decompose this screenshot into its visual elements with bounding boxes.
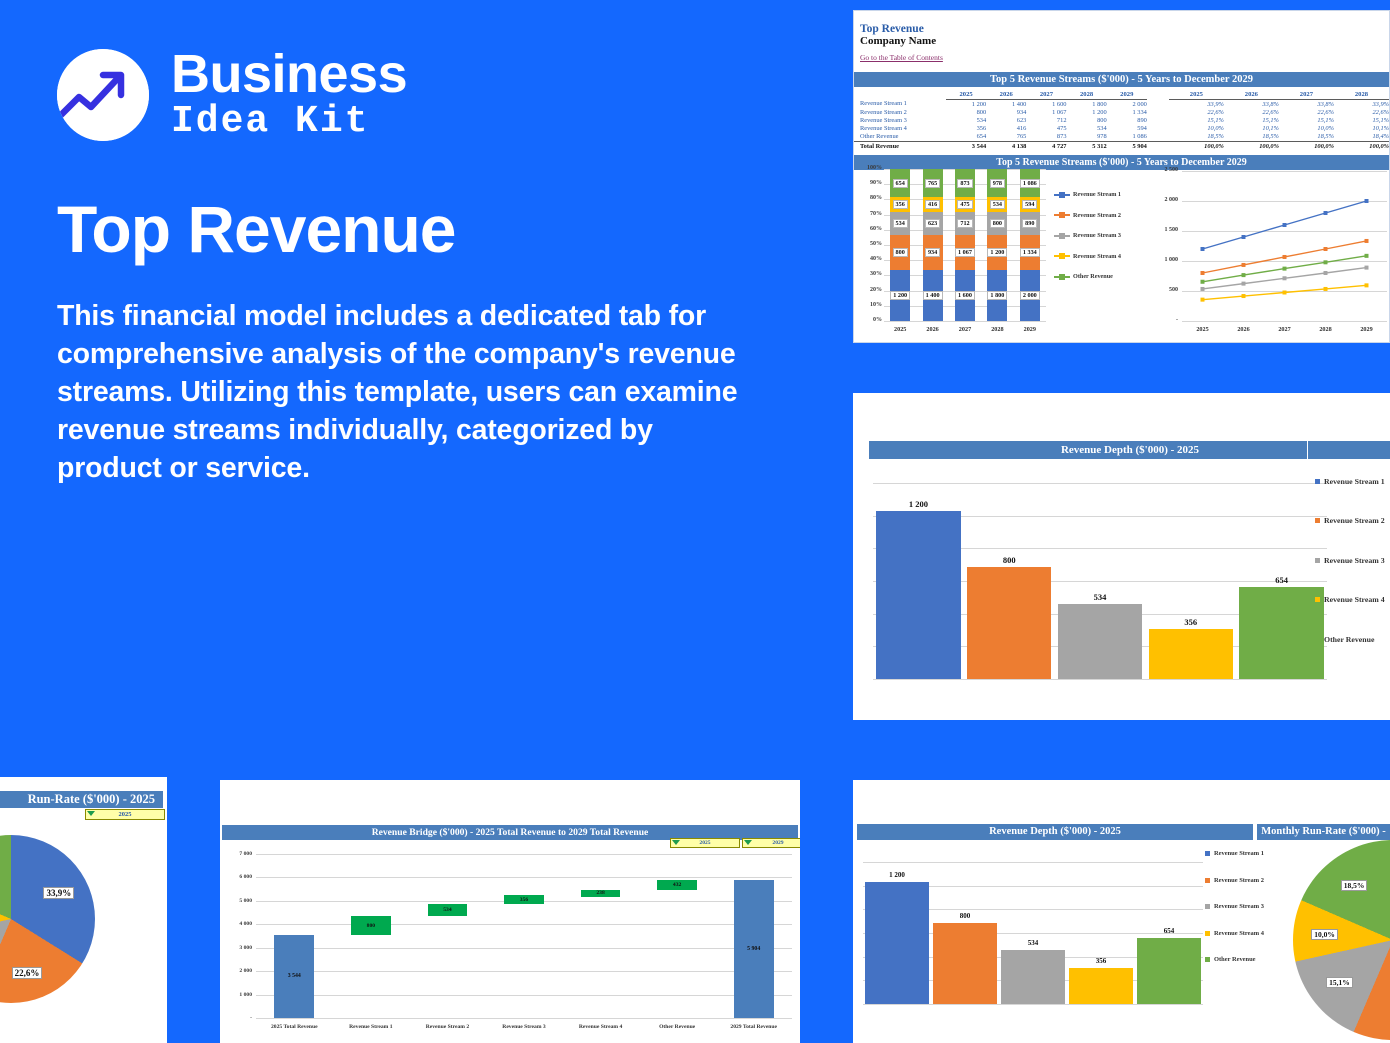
y-axis-tick-label: 90% bbox=[856, 180, 882, 186]
x-axis-tick-label: 2025 bbox=[1182, 326, 1223, 333]
legend-item-label: Revenue Stream 4 bbox=[1073, 253, 1121, 260]
brand-name-primary: Business bbox=[171, 47, 407, 101]
y-axis-tick-label: 50% bbox=[856, 241, 882, 247]
waterfall-value-label: 238 bbox=[581, 890, 621, 896]
legend-color-swatch bbox=[1205, 851, 1210, 856]
bar-segment-label: 800 bbox=[893, 248, 908, 257]
bar-segment-label: 1 200 bbox=[987, 248, 1007, 257]
bar-segment: 873 bbox=[955, 169, 975, 197]
y-axis-tick-label: 40% bbox=[856, 256, 882, 262]
legend-item: Revenue Stream 3 bbox=[1054, 232, 1121, 239]
col-pct-2025: 2025 bbox=[1169, 87, 1224, 100]
col-year-2025: 2025 bbox=[946, 87, 986, 100]
cell-value: 800 bbox=[1067, 116, 1107, 124]
x-axis-tick-label: Revenue Stream 4 bbox=[562, 1024, 639, 1030]
bar bbox=[876, 511, 960, 679]
cell-pct: 22,6% bbox=[1279, 108, 1334, 116]
cell-pct: 22,6% bbox=[1334, 108, 1389, 116]
cell-value: 890 bbox=[1107, 116, 1147, 124]
cell-pct: 18,5% bbox=[1224, 133, 1279, 142]
cell-value: 654 bbox=[946, 133, 986, 142]
legend-item-label: Revenue Stream 2 bbox=[1214, 877, 1264, 884]
x-axis-tick-label: 2025 Total Revenue bbox=[256, 1024, 333, 1030]
bar-segment-label: 1 334 bbox=[1020, 248, 1040, 257]
waterfall-delta-bar: 800 bbox=[351, 916, 391, 935]
gridline bbox=[873, 679, 1327, 680]
cell-value: 1 067 bbox=[1026, 108, 1066, 116]
bar-segment: 416 bbox=[923, 197, 943, 212]
legend-line-swatch bbox=[1054, 255, 1070, 257]
cell-value: 475 bbox=[1026, 125, 1066, 133]
bar-value-label: 654 bbox=[1239, 575, 1323, 585]
bar-segment: 475 bbox=[955, 197, 975, 212]
bar-segment: 623 bbox=[923, 212, 943, 235]
cell-pct: 15,1% bbox=[1279, 116, 1334, 124]
cell-pct: 10,1% bbox=[1334, 125, 1389, 133]
col-year-2028: 2028 bbox=[1067, 87, 1107, 100]
table-header-row: 2025 2026 2027 2028 2029 2025 2026 2027 … bbox=[854, 87, 1389, 100]
cell-pct: 100,0% bbox=[1224, 141, 1279, 150]
gridline bbox=[256, 854, 792, 855]
cell-value: 416 bbox=[986, 125, 1026, 133]
bar-value-label: 654 bbox=[1137, 927, 1200, 935]
bar-segment: 978 bbox=[987, 169, 1007, 197]
pie-chart bbox=[1293, 840, 1390, 1040]
sheet-company-name: Company Name bbox=[860, 35, 1389, 47]
legend-line-swatch bbox=[1054, 194, 1070, 196]
stacked-bar-column: 2 0001 3348905941 086 bbox=[1020, 169, 1040, 321]
bar bbox=[1149, 629, 1233, 679]
x-axis-tick-label: 2029 bbox=[1014, 326, 1046, 333]
cell-value: 765 bbox=[986, 133, 1026, 142]
bar-value-label: 800 bbox=[933, 912, 996, 920]
bar-value-label: 1 200 bbox=[865, 871, 928, 879]
legend-item-label: Revenue Stream 2 bbox=[1324, 516, 1385, 525]
legend-item: Revenue Stream 2 bbox=[1205, 877, 1264, 884]
x-axis-tick-label: 2027 bbox=[949, 326, 981, 333]
bar-segment: 1 600 bbox=[955, 270, 975, 321]
year-selector-left[interactable]: 2025 bbox=[85, 809, 165, 820]
chart-revenue-depth-2025: 1 200800534356654 bbox=[867, 463, 1333, 685]
pie-slice-label: 15,1% bbox=[1326, 977, 1353, 988]
bar-segment-label: 712 bbox=[957, 219, 972, 228]
legend-color-swatch bbox=[1205, 931, 1210, 936]
bar bbox=[1001, 950, 1064, 1004]
gridline bbox=[863, 1004, 1203, 1005]
bar-segment: 2 000 bbox=[1020, 270, 1040, 321]
bar-segment-label: 765 bbox=[925, 179, 940, 188]
y-axis-tick-label: 10% bbox=[856, 302, 882, 308]
chart-pie-run-rate-left: 33,9%22,6%15,1%10,0%18,5% bbox=[0, 835, 95, 1003]
bar bbox=[1137, 938, 1200, 1004]
col-pct-2027: 2027 bbox=[1279, 87, 1334, 100]
legend-item-label: Revenue Stream 4 bbox=[1324, 595, 1385, 604]
col-pct-2028: 2028 bbox=[1334, 87, 1389, 100]
bar-segment-label: 934 bbox=[925, 248, 940, 257]
cell-value: 534 bbox=[1067, 125, 1107, 133]
legend-line-swatch bbox=[1054, 214, 1070, 216]
legend-item-label: Revenue Stream 3 bbox=[1214, 903, 1264, 910]
cell-value: 1 334 bbox=[1107, 108, 1147, 116]
bar-segment-label: 1 400 bbox=[923, 291, 943, 300]
cell-value: 4 727 bbox=[1026, 141, 1066, 150]
table-of-contents-link[interactable]: Go to the Table of Contents bbox=[860, 53, 943, 62]
cell-pct: 15,1% bbox=[1169, 116, 1224, 124]
row-label: Revenue Stream 3 bbox=[854, 116, 946, 124]
bar-segment-label: 1 086 bbox=[1020, 179, 1040, 188]
legend-marker bbox=[1059, 212, 1065, 218]
cell-pct: 33,9% bbox=[1169, 100, 1224, 109]
panel-revenue-bridge: Revenue Bridge ($'000) - 2025 Total Reve… bbox=[220, 780, 800, 1043]
cell-value: 4 138 bbox=[986, 141, 1026, 150]
cell-pct: 100,0% bbox=[1279, 141, 1334, 150]
waterfall-value-label: 534 bbox=[428, 907, 468, 913]
pie-slice-label: 22,6% bbox=[12, 967, 43, 979]
cell-pct: 15,1% bbox=[1334, 116, 1389, 124]
x-axis-tick-label: 2028 bbox=[1305, 326, 1346, 333]
cell-pct: 15,1% bbox=[1224, 116, 1279, 124]
waterfall-total-bar: 3 544 bbox=[274, 935, 314, 1018]
legend-color-swatch bbox=[1315, 597, 1320, 602]
panel-depth-and-runrate: Revenue Depth ($'000) - 2025 Monthly Run… bbox=[853, 780, 1390, 1043]
gridline bbox=[256, 948, 792, 949]
legend-color-swatch bbox=[1315, 518, 1320, 523]
y-axis-tick-label: - bbox=[222, 1015, 252, 1021]
legend-line-swatch bbox=[1054, 235, 1070, 237]
bar-segment: 934 bbox=[923, 235, 943, 269]
cell-pct: 22,6% bbox=[1224, 108, 1279, 116]
y-axis-tick-label: 60% bbox=[856, 226, 882, 232]
cell-value: 978 bbox=[1067, 133, 1107, 142]
y-axis-tick-label: 20% bbox=[856, 287, 882, 293]
cell-pct: 100,0% bbox=[1334, 141, 1389, 150]
bar bbox=[933, 923, 996, 1004]
bar-segment: 1 200 bbox=[987, 235, 1007, 269]
gridline bbox=[884, 321, 1046, 322]
x-axis-tick-label: Revenue Stream 1 bbox=[333, 1024, 410, 1030]
y-axis-tick-label: 7 000 bbox=[222, 851, 252, 857]
waterfall-value-label: 800 bbox=[351, 923, 391, 929]
legend-item: Revenue Stream 4 bbox=[1205, 930, 1264, 937]
x-axis-tick-label: 2027 bbox=[1264, 326, 1305, 333]
x-axis-tick-label: Revenue Stream 2 bbox=[409, 1024, 486, 1030]
pie-slice-label: 33,9% bbox=[43, 887, 74, 899]
bar-segment-label: 1 200 bbox=[890, 291, 910, 300]
waterfall-value-label: 3 544 bbox=[274, 973, 314, 979]
legend-item-label: Revenue Stream 3 bbox=[1073, 232, 1121, 239]
cell-value: 873 bbox=[1026, 133, 1066, 142]
pie-slice-label: 10,0% bbox=[1311, 929, 1338, 940]
legend-item-label: Revenue Stream 1 bbox=[1073, 191, 1121, 198]
cell-value: 1 600 bbox=[1026, 100, 1066, 109]
col-pct-2026: 2026 bbox=[1224, 87, 1279, 100]
growth-arrow-icon bbox=[57, 49, 149, 141]
cell-value: 1 400 bbox=[986, 100, 1026, 109]
legend-item-label: Revenue Stream 4 bbox=[1214, 930, 1264, 937]
waterfall-value-label: 432 bbox=[657, 882, 697, 888]
col-spacer bbox=[1147, 87, 1169, 100]
revenue-streams-table: 2025 2026 2027 2028 2029 2025 2026 2027 … bbox=[854, 87, 1389, 151]
waterfall-delta-bar: 432 bbox=[657, 880, 697, 890]
cell-value: 934 bbox=[986, 108, 1026, 116]
bar-segment-label: 475 bbox=[957, 200, 972, 209]
x-axis-tick-label: 2025 bbox=[884, 326, 916, 333]
legend-item-label: Revenue Stream 3 bbox=[1324, 556, 1385, 565]
y-axis-tick-label: 80% bbox=[856, 195, 882, 201]
bar-value-label: 1 200 bbox=[876, 499, 960, 509]
y-axis-tick-label: 1 000 bbox=[222, 992, 252, 998]
bar-segment-label: 594 bbox=[1022, 200, 1037, 209]
col-year-2029: 2029 bbox=[1107, 87, 1147, 100]
waterfall-delta-bar: 356 bbox=[504, 895, 544, 903]
gridline bbox=[873, 483, 1327, 484]
bar-segment-label: 890 bbox=[1022, 219, 1037, 228]
cell-pct: 10,0% bbox=[1169, 125, 1224, 133]
row-label: Revenue Stream 4 bbox=[854, 125, 946, 133]
chart-revenue-trend: -5001 0001 5002 0002 5002025202620272028… bbox=[1146, 163, 1390, 343]
bar-segment: 534 bbox=[987, 197, 1007, 212]
legend-item: Other Revenue bbox=[1054, 273, 1121, 280]
gridline bbox=[256, 995, 792, 996]
x-axis-tick-label: 2026 bbox=[916, 326, 948, 333]
table-banner: Top 5 Revenue Streams ($'000) - 5 Years … bbox=[854, 72, 1389, 87]
bar-segment: 654 bbox=[890, 169, 910, 197]
legend-item: Revenue Stream 4 bbox=[1315, 595, 1385, 604]
bar bbox=[1069, 968, 1132, 1004]
row-label: Revenue Stream 2 bbox=[854, 108, 946, 116]
cell-value: 1 200 bbox=[1067, 108, 1107, 116]
legend-color-swatch bbox=[1315, 637, 1320, 642]
legend-color-swatch bbox=[1205, 878, 1210, 883]
charts-row: 0%10%20%30%40%50%60%70%80%90%100%1 20080… bbox=[854, 163, 1390, 343]
panel-monthly-run-rate-left: Run-Rate ($'000) - 2025 2025 33,9%22,6%1… bbox=[0, 777, 167, 1043]
table-row: Revenue Stream 2 800 934 1 067 1 200 1 3… bbox=[854, 108, 1389, 116]
gridline bbox=[256, 1018, 792, 1019]
bar-segment: 534 bbox=[890, 212, 910, 235]
legend-item-label: Other Revenue bbox=[1214, 956, 1256, 963]
bar-segment: 594 bbox=[1020, 197, 1040, 212]
chart-legend-lines: Revenue Stream 1Revenue Stream 2Revenue … bbox=[1054, 191, 1121, 294]
bar-segment-label: 873 bbox=[957, 179, 972, 188]
legend-item: Other Revenue bbox=[1315, 635, 1385, 644]
bar-value-label: 356 bbox=[1069, 957, 1132, 965]
x-axis-tick-label: 2026 bbox=[1223, 326, 1264, 333]
bar-segment: 1 400 bbox=[923, 270, 943, 321]
cell-value: 5 904 bbox=[1107, 141, 1147, 150]
bar-segment: 1 086 bbox=[1020, 169, 1040, 197]
bar-segment-label: 654 bbox=[893, 179, 908, 188]
bar-segment-label: 534 bbox=[893, 219, 908, 228]
bar-segment: 1 334 bbox=[1020, 235, 1040, 269]
stacked-bar-column: 1 8001 200800534978 bbox=[987, 169, 1007, 321]
legend-item: Revenue Stream 1 bbox=[1054, 191, 1121, 198]
bar-segment-label: 2 000 bbox=[1020, 291, 1040, 300]
bar-segment-label: 800 bbox=[990, 219, 1005, 228]
bar-segment-label: 534 bbox=[990, 200, 1005, 209]
y-axis-tick-label: 100% bbox=[856, 165, 882, 171]
pie-slice-label: 18,5% bbox=[1341, 880, 1368, 891]
cell-value: 800 bbox=[946, 108, 986, 116]
x-axis-tick-label: Revenue Stream 3 bbox=[486, 1024, 563, 1030]
y-axis-tick-label: 5 000 bbox=[222, 898, 252, 904]
gridline bbox=[256, 971, 792, 972]
cell-pct: 10,1% bbox=[1224, 125, 1279, 133]
legend-item: Revenue Stream 4 bbox=[1054, 253, 1121, 260]
promo-block: Business Idea Kit Top Revenue This finan… bbox=[57, 47, 817, 488]
chart-pie-monthly-run-rate: 33,9%22,6%15,1%10,0%18,5% bbox=[1293, 840, 1390, 1040]
col-year-2027: 2027 bbox=[1026, 87, 1066, 100]
legend-color-swatch bbox=[1205, 957, 1210, 962]
x-axis-tick-label: 2028 bbox=[981, 326, 1013, 333]
bar-segment-label: 978 bbox=[990, 179, 1005, 188]
chart-legend-revenue-depth: Revenue Stream 1Revenue Stream 2Revenue … bbox=[1315, 477, 1385, 674]
chart-title-monthly-run-rate: Monthly Run-Rate ($'000) - 2025 bbox=[1257, 824, 1390, 840]
bar-segment: 712 bbox=[955, 212, 975, 235]
cell-pct: 33,9% bbox=[1334, 100, 1389, 109]
y-axis-tick-label: 3 000 bbox=[222, 945, 252, 951]
bar bbox=[1239, 587, 1323, 679]
page-title: Top Revenue bbox=[57, 195, 817, 264]
bar-value-label: 800 bbox=[967, 555, 1051, 565]
legend-item: Revenue Stream 3 bbox=[1315, 556, 1385, 565]
cell-pct: 33,8% bbox=[1279, 100, 1334, 109]
bar-segment: 765 bbox=[923, 169, 943, 197]
cell-pct: 18,5% bbox=[1169, 133, 1224, 142]
y-axis-tick-label: 0% bbox=[856, 317, 882, 323]
bar-value-label: 356 bbox=[1149, 617, 1233, 627]
legend-marker bbox=[1059, 192, 1065, 198]
bar-segment-label: 1 600 bbox=[955, 291, 975, 300]
col-blank bbox=[854, 87, 946, 100]
sheet-header: Top Revenue Company Name Go to the Table… bbox=[854, 11, 1389, 65]
bar-segment-label: 356 bbox=[893, 200, 908, 209]
cell-value: 2 000 bbox=[1107, 100, 1147, 109]
stacked-bar-column: 1 6001 067712475873 bbox=[955, 169, 975, 321]
cell-pct: 10,0% bbox=[1279, 125, 1334, 133]
chart-title-revenue-depth-2: Revenue Depth ($'000) - 2025 bbox=[857, 824, 1253, 840]
line-series-svg bbox=[1146, 163, 1390, 343]
bar bbox=[967, 567, 1051, 679]
stacked-bar-column: 1 200800534356654 bbox=[890, 169, 910, 321]
table-total-row: Total Revenue 3 544 4 138 4 727 5 312 5 … bbox=[854, 141, 1389, 150]
legend-item-label: Other Revenue bbox=[1073, 273, 1113, 280]
table-row: Other Revenue 654 765 873 978 1 086 18,5… bbox=[854, 133, 1389, 142]
cell-value: 5 312 bbox=[1067, 141, 1107, 150]
waterfall-delta-bar: 238 bbox=[581, 890, 621, 897]
legend-item: Revenue Stream 1 bbox=[1315, 477, 1385, 486]
row-label: Other Revenue bbox=[854, 133, 946, 142]
cell-pct: 18,4% bbox=[1334, 133, 1389, 142]
chart-revenue-bridge-waterfall: -1 0002 0003 0004 0005 0006 0007 0003 54… bbox=[222, 842, 798, 1042]
cell-pct: 22,6% bbox=[1169, 108, 1224, 116]
x-axis-tick-label: 2029 bbox=[1346, 326, 1387, 333]
cell-pct: 100,0% bbox=[1169, 141, 1224, 150]
panel-revenue-depth: Revenue Depth ($'000) - 2025 1 200800534… bbox=[853, 393, 1390, 720]
cell-value: 356 bbox=[946, 125, 986, 133]
gridline bbox=[863, 862, 1203, 863]
legend-item: Revenue Stream 2 bbox=[1315, 516, 1385, 525]
waterfall-total-bar: 5 904 bbox=[734, 880, 774, 1018]
legend-item-label: Revenue Stream 2 bbox=[1073, 212, 1121, 219]
bar-value-label: 534 bbox=[1001, 939, 1064, 947]
legend-marker bbox=[1059, 274, 1065, 280]
bar-segment-label: 1 800 bbox=[987, 291, 1007, 300]
legend-color-swatch bbox=[1205, 904, 1210, 909]
cell-value: 623 bbox=[986, 116, 1026, 124]
stacked-bar-column: 1 400934623416765 bbox=[923, 169, 943, 321]
sheet-panel-top-revenue: Top Revenue Company Name Go to the Table… bbox=[853, 10, 1390, 343]
waterfall-delta-bar: 534 bbox=[428, 904, 468, 917]
bar-segment: 1 800 bbox=[987, 270, 1007, 322]
chart-legend-revenue-depth-b: Revenue Stream 1Revenue Stream 2Revenue … bbox=[1205, 850, 1264, 983]
y-axis-tick-label: 70% bbox=[856, 211, 882, 217]
brand-name-secondary: Idea Kit bbox=[171, 101, 407, 143]
title-bar-extension bbox=[1307, 441, 1390, 459]
bar-segment: 800 bbox=[987, 212, 1007, 235]
table-row: Revenue Stream 3 534 623 712 800 890 15,… bbox=[854, 116, 1389, 124]
x-axis-tick-label: Other Revenue bbox=[639, 1024, 716, 1030]
y-axis-tick-label: 4 000 bbox=[222, 921, 252, 927]
x-axis-tick-label: 2029 Total Revenue bbox=[715, 1024, 792, 1030]
col-year-2026: 2026 bbox=[986, 87, 1026, 100]
cell-pct: 33,8% bbox=[1224, 100, 1279, 109]
legend-line-swatch bbox=[1054, 276, 1070, 278]
legend-color-swatch bbox=[1315, 558, 1320, 563]
chart-stacked-revenue-streams: 0%10%20%30%40%50%60%70%80%90%100%1 20080… bbox=[854, 163, 1054, 343]
legend-marker bbox=[1059, 253, 1065, 259]
brand-logo: Business Idea Kit bbox=[57, 47, 817, 143]
promo-description: This financial model includes a dedicate… bbox=[57, 298, 757, 487]
bar-segment-label: 416 bbox=[925, 200, 940, 209]
row-label: Revenue Stream 1 bbox=[854, 100, 946, 109]
waterfall-value-label: 356 bbox=[504, 897, 544, 903]
cell-value: 3 544 bbox=[946, 141, 986, 150]
legend-item: Revenue Stream 3 bbox=[1205, 903, 1264, 910]
cell-value: 1 086 bbox=[1107, 133, 1147, 142]
bar-value-label: 534 bbox=[1058, 592, 1142, 602]
table-row: Revenue Stream 4 356 416 475 534 594 10,… bbox=[854, 125, 1389, 133]
row-label: Total Revenue bbox=[854, 141, 946, 150]
y-axis-tick-label: 2 000 bbox=[222, 968, 252, 974]
cell-value: 534 bbox=[946, 116, 986, 124]
bar-segment: 1 200 bbox=[890, 270, 910, 321]
waterfall-value-label: 5 904 bbox=[734, 946, 774, 952]
cell-value: 712 bbox=[1026, 116, 1066, 124]
bar-segment: 356 bbox=[890, 197, 910, 212]
bar-segment: 800 bbox=[890, 235, 910, 269]
legend-marker bbox=[1059, 233, 1065, 239]
legend-item-label: Revenue Stream 1 bbox=[1214, 850, 1264, 857]
legend-item: Revenue Stream 2 bbox=[1054, 212, 1121, 219]
chart-revenue-depth-2025-b: 1 200800534356654 bbox=[857, 842, 1209, 1010]
legend-color-swatch bbox=[1315, 479, 1320, 484]
bar-segment-label: 623 bbox=[925, 219, 940, 228]
gridline bbox=[256, 877, 792, 878]
sheet-title: Top Revenue bbox=[860, 23, 1389, 35]
bar bbox=[1058, 604, 1142, 679]
cell-value: 1 800 bbox=[1067, 100, 1107, 109]
bar-segment: 1 067 bbox=[955, 235, 975, 269]
chart-title-run-rate-left: Run-Rate ($'000) - 2025 bbox=[0, 791, 163, 808]
legend-item: Other Revenue bbox=[1205, 956, 1264, 963]
y-axis-tick-label: 30% bbox=[856, 271, 882, 277]
table-row: Revenue Stream 1 1 200 1 400 1 600 1 800… bbox=[854, 100, 1389, 109]
cell-value: 1 200 bbox=[946, 100, 986, 109]
gridline bbox=[256, 924, 792, 925]
cell-pct: 18,5% bbox=[1279, 133, 1334, 142]
legend-item-label: Revenue Stream 1 bbox=[1324, 477, 1385, 486]
y-axis-tick-label: 6 000 bbox=[222, 874, 252, 880]
